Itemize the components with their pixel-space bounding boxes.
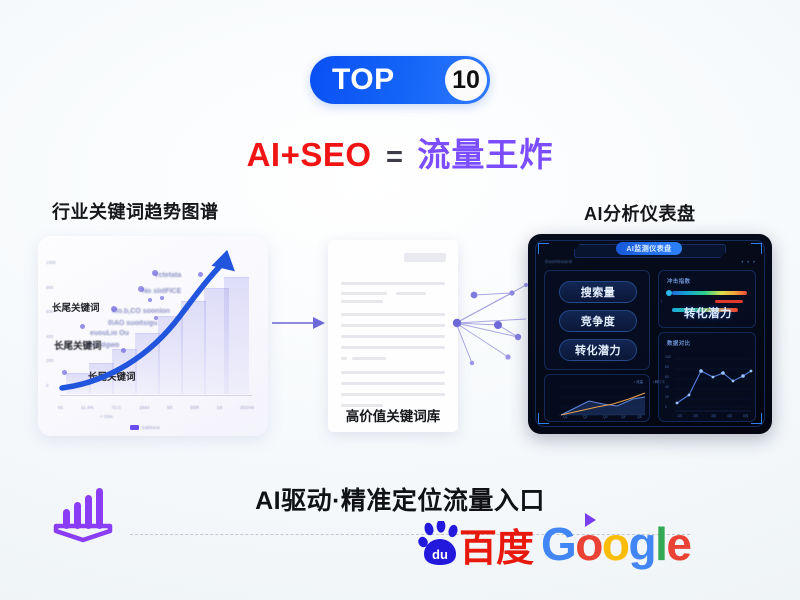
doc-skeleton-line bbox=[341, 382, 445, 385]
trend-area-chart-panel: • 流量 • 转化率 Q1 Q2 Q3 Q4 Q5 bbox=[544, 374, 650, 422]
y-tick: 20 bbox=[665, 395, 669, 399]
headline-right: 流量王炸 bbox=[417, 136, 553, 173]
y-tick: 40 bbox=[665, 385, 669, 389]
dashboard-sublabel: Dashboard bbox=[545, 260, 572, 265]
y-tick: 0 bbox=[665, 405, 667, 409]
keyword-trend-chart-card: 1000 800 600 400 200 0 Vctetata No slidF… bbox=[38, 236, 268, 436]
google-letter: e bbox=[666, 518, 690, 570]
doc-skeleton-line bbox=[341, 371, 445, 374]
y-tick: 100 bbox=[665, 355, 671, 359]
top-rank-badge: TOP 10 bbox=[310, 56, 490, 104]
metric-pill-conversion[interactable]: 转化潜力 bbox=[559, 339, 637, 361]
legend-swatch bbox=[130, 425, 139, 430]
doc-card-caption: 高价值关键词库 bbox=[328, 405, 458, 425]
doc-header-chip bbox=[404, 253, 446, 262]
doc-skeleton-line bbox=[341, 357, 347, 360]
data-comparison-panel: 数据对比 100 80 60 40 20 0 1月 bbox=[658, 332, 756, 422]
gauge-value-bar bbox=[715, 300, 743, 303]
dashboard-menu-icon[interactable]: • • • bbox=[741, 260, 756, 266]
doc-skeleton-line bbox=[341, 313, 445, 316]
google-letter: l bbox=[655, 518, 666, 570]
google-letter: o bbox=[602, 518, 629, 570]
x-tick: Q1 bbox=[563, 415, 568, 419]
x-tick: 5SR bbox=[190, 405, 199, 410]
top-badge-word: TOP bbox=[332, 63, 395, 97]
doc-skeleton-line bbox=[352, 357, 386, 360]
metric-pills-panel: 搜索量 竞争度 转化潜力 bbox=[544, 270, 650, 370]
google-logo: Google bbox=[541, 521, 690, 567]
baidu-paw-icon: du bbox=[418, 521, 462, 567]
gauge-tick: | bbox=[661, 299, 662, 303]
x-tick: 3月 bbox=[711, 413, 716, 418]
metric-pill-competition[interactable]: 竞争度 bbox=[559, 310, 637, 332]
doc-skeleton-line bbox=[341, 324, 445, 327]
x-tick: 11.4% bbox=[81, 405, 94, 410]
gauge-panel-title: 冲击指数 bbox=[667, 277, 691, 285]
chart-x-axis-ticks: 91 11.4% 72.C 1844 50 5SR 18 202AN bbox=[58, 405, 254, 410]
x-tick: 4月 bbox=[727, 413, 732, 418]
x-tick: Q3 bbox=[603, 415, 608, 419]
gauge-overlay-label: 转化潜力 bbox=[659, 305, 757, 321]
x-tick: Q4 bbox=[621, 415, 626, 419]
x-tick: 202AN bbox=[240, 405, 254, 410]
legend-label: trakitona bbox=[142, 425, 160, 430]
x-tick: 1月 bbox=[677, 413, 682, 418]
doc-skeleton-line bbox=[341, 282, 445, 285]
chart-x-axis-label: + 03m bbox=[100, 414, 113, 419]
line-chart bbox=[659, 333, 757, 423]
doc-skeleton-line bbox=[396, 292, 426, 295]
gauge-row bbox=[669, 291, 747, 295]
flow-arrow-icon bbox=[272, 315, 326, 331]
y-tick: 60 bbox=[665, 375, 669, 379]
doc-skeleton-line bbox=[341, 346, 445, 349]
top-badge-number: 10 bbox=[445, 59, 487, 101]
play-triangle-icon bbox=[585, 513, 596, 527]
area-chart bbox=[545, 375, 651, 423]
ai-analytics-dashboard: AI监测仪表盘 Dashboard • • • 搜索量 竞争度 转化潜力 • 流… bbox=[528, 234, 772, 434]
x-tick: Q2 bbox=[583, 415, 588, 419]
impact-index-panel: 冲击指数 | 转化潜力 bbox=[658, 270, 756, 328]
keyword-network-graph-icon bbox=[452, 275, 528, 371]
gauge-gradient-bar bbox=[672, 291, 747, 295]
headline-left: AI+SEO bbox=[247, 136, 372, 173]
x-tick: 1844 bbox=[139, 405, 149, 410]
left-panel-caption: 行业关键词趋势图谱 bbox=[52, 198, 219, 224]
right-panel-caption: AI分析仪表盘 bbox=[584, 200, 696, 226]
baidu-logo: du 百度 bbox=[418, 521, 533, 567]
google-letter: G bbox=[541, 518, 575, 570]
y-tick: 80 bbox=[665, 365, 669, 369]
doc-skeleton-line bbox=[341, 393, 445, 396]
search-engine-logos: du 百度 Google bbox=[418, 521, 691, 567]
doc-skeleton-line bbox=[341, 292, 387, 295]
x-tick: 72.C bbox=[112, 405, 122, 410]
frame-corner bbox=[538, 243, 549, 254]
google-letter: g bbox=[629, 518, 656, 570]
doc-skeleton-line bbox=[341, 300, 383, 303]
gauge-row: | bbox=[669, 300, 747, 304]
x-tick: 91 bbox=[58, 405, 63, 410]
baidu-text: 百度 bbox=[459, 531, 533, 567]
frame-corner bbox=[751, 243, 762, 254]
x-tick: 5月 bbox=[743, 413, 748, 418]
bottom-tagline: AI驱动·精准定位流量入口 bbox=[0, 481, 800, 517]
page-title: AI+SEO = 流量王炸 bbox=[0, 128, 800, 176]
metric-pill-search-volume[interactable]: 搜索量 bbox=[559, 281, 637, 303]
x-tick: Q5 bbox=[637, 415, 642, 419]
keyword-library-document-card bbox=[328, 240, 458, 432]
doc-skeleton-line bbox=[341, 335, 445, 338]
x-tick: 50 bbox=[167, 405, 172, 410]
x-tick: 18 bbox=[217, 405, 222, 410]
x-tick: 2月 bbox=[693, 413, 698, 418]
chart-legend: trakitona bbox=[130, 425, 160, 430]
headline-equals: = bbox=[386, 141, 403, 173]
baidu-du-text: du bbox=[432, 547, 448, 562]
dashboard-title-badge: AI监测仪表盘 bbox=[616, 242, 682, 255]
